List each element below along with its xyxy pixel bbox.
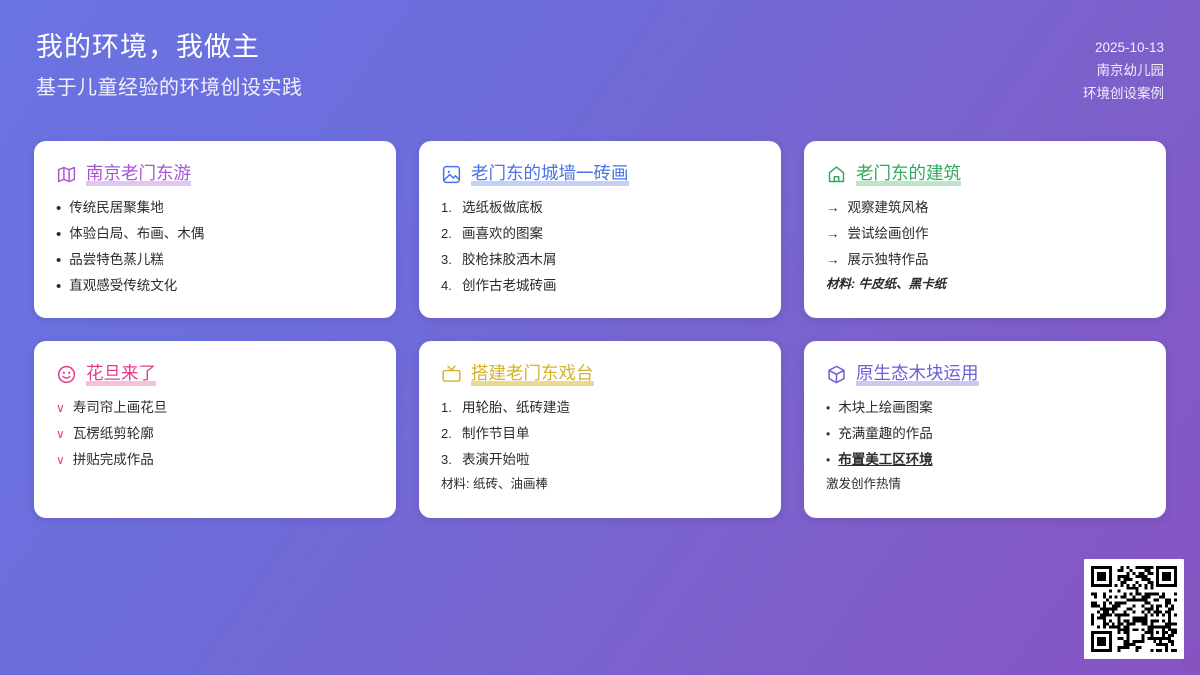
activity-card[interactable]: 老门东的城墙一砖画1.选纸板做底板2.画喜欢的图案3.胶枪抹胶洒木屑4.创作古老… <box>419 141 781 318</box>
activity-card[interactable]: 南京老门东游•传统民居聚集地•体验白局、布画、木偶•品尝特色蒸儿糕•直观感受传统… <box>34 141 396 318</box>
card-header: 搭建老门东戏台 <box>441 363 759 386</box>
smiley-icon <box>56 364 77 385</box>
list-marker-bullet: • <box>826 428 830 440</box>
list-item-text: 选纸板做底板 <box>462 200 543 217</box>
card-title: 南京老门东游 <box>86 163 191 186</box>
list-marker-number: 2. <box>441 226 454 242</box>
list-item-text: 瓦楞纸剪轮廓 <box>73 426 154 443</box>
list-marker-number: 3. <box>441 252 454 268</box>
list-item: •布置美工区环境 <box>826 452 1144 469</box>
card-item-list: →观察建筑风格→尝试绘画创作→展示独特作品 <box>826 200 1144 269</box>
card-note: 材料: 牛皮纸、黑卡纸 <box>826 276 1144 292</box>
card-header: 南京老门东游 <box>56 163 374 186</box>
list-item-text: 充满童趣的作品 <box>838 426 933 443</box>
list-marker-number: 4. <box>441 278 454 294</box>
activity-card[interactable]: 花旦来了∨寿司帘上画花旦∨瓦楞纸剪轮廓∨拼贴完成作品 <box>34 341 396 518</box>
list-marker-bullet: • <box>826 454 830 466</box>
list-item: •木块上绘画图案 <box>826 400 1144 417</box>
list-item: →尝试绘画创作 <box>826 226 1144 243</box>
image-icon <box>441 164 462 185</box>
card-title: 老门东的建筑 <box>856 163 961 186</box>
list-item-text: 制作节目单 <box>462 426 530 443</box>
list-marker-check: ∨ <box>56 427 65 442</box>
list-item: →观察建筑风格 <box>826 200 1144 217</box>
card-item-list: •木块上绘画图案•充满童趣的作品•布置美工区环境 <box>826 400 1144 469</box>
list-marker-bullet: • <box>56 201 61 216</box>
list-item: 3.表演开始啦 <box>441 452 759 469</box>
list-item-text: 布置美工区环境 <box>838 452 933 469</box>
list-item-text: 用轮胎、纸砖建造 <box>462 400 570 417</box>
list-marker-bullet: • <box>826 402 830 414</box>
card-item-list: ∨寿司帘上画花旦∨瓦楞纸剪轮廓∨拼贴完成作品 <box>56 400 374 469</box>
list-item: ∨拼贴完成作品 <box>56 452 374 469</box>
meta-org: 南京幼儿园 <box>1083 59 1164 82</box>
card-header: 老门东的城墙一砖画 <box>441 163 759 186</box>
list-marker-bullet: • <box>56 279 61 294</box>
list-item: 2.画喜欢的图案 <box>441 226 759 243</box>
list-item-text: 体验白局、布画、木偶 <box>69 226 204 243</box>
list-marker-check: ∨ <box>56 453 65 468</box>
list-item-text: 品尝特色蒸儿糕 <box>69 252 164 269</box>
list-marker-arrow: → <box>826 252 840 269</box>
list-marker-bullet: • <box>56 227 61 242</box>
list-item: 1.选纸板做底板 <box>441 200 759 217</box>
list-item-text: 尝试绘画创作 <box>848 226 929 243</box>
card-note: 激发创作热情 <box>826 476 1144 492</box>
card-header: 原生态木块运用 <box>826 363 1144 386</box>
list-item: •品尝特色蒸儿糕 <box>56 252 374 269</box>
card-title: 原生态木块运用 <box>856 363 979 386</box>
list-item: 2.制作节目单 <box>441 426 759 443</box>
list-item: 1.用轮胎、纸砖建造 <box>441 400 759 417</box>
list-item-text: 拼贴完成作品 <box>73 452 154 469</box>
list-marker-number: 3. <box>441 452 454 468</box>
card-header: 老门东的建筑 <box>826 163 1144 186</box>
card-item-list: 1.用轮胎、纸砖建造2.制作节目单3.表演开始啦 <box>441 400 759 469</box>
list-marker-arrow: → <box>826 200 840 217</box>
page-title: 我的环境，我做主 <box>36 30 303 65</box>
list-item-text: 寿司帘上画花旦 <box>73 400 168 417</box>
list-item: ∨瓦楞纸剪轮廓 <box>56 426 374 443</box>
page-subtitle: 基于儿童经验的环境创设实践 <box>36 71 303 100</box>
meta-date: 2025-10-13 <box>1083 36 1164 59</box>
card-item-list: •传统民居聚集地•体验白局、布画、木偶•品尝特色蒸儿糕•直观感受传统文化 <box>56 200 374 295</box>
list-item-text: 观察建筑风格 <box>848 200 929 217</box>
list-item: 3.胶枪抹胶洒木屑 <box>441 252 759 269</box>
list-item-text: 展示独特作品 <box>848 252 929 269</box>
activity-card[interactable]: 原生态木块运用•木块上绘画图案•充满童趣的作品•布置美工区环境激发创作热情 <box>804 341 1166 518</box>
card-title: 搭建老门东戏台 <box>471 363 594 386</box>
list-marker-number: 2. <box>441 426 454 442</box>
activity-card[interactable]: 老门东的建筑→观察建筑风格→尝试绘画创作→展示独特作品材料: 牛皮纸、黑卡纸 <box>804 141 1166 318</box>
list-marker-number: 1. <box>441 200 454 216</box>
cube-icon <box>826 364 847 385</box>
list-item-text: 创作古老城砖画 <box>462 278 557 295</box>
list-item: •传统民居聚集地 <box>56 200 374 217</box>
list-item-text: 表演开始啦 <box>462 452 530 469</box>
list-item: →展示独特作品 <box>826 252 1144 269</box>
list-marker-bullet: • <box>56 253 61 268</box>
card-header: 花旦来了 <box>56 363 374 386</box>
card-title: 花旦来了 <box>86 363 156 386</box>
title-block: 我的环境，我做主 基于儿童经验的环境创设实践 <box>36 30 303 100</box>
list-item: ∨寿司帘上画花旦 <box>56 400 374 417</box>
card-item-list: 1.选纸板做底板2.画喜欢的图案3.胶枪抹胶洒木屑4.创作古老城砖画 <box>441 200 759 295</box>
meta-category: 环境创设案例 <box>1083 82 1164 105</box>
list-item-text: 直观感受传统文化 <box>69 278 177 295</box>
list-marker-check: ∨ <box>56 401 65 416</box>
list-marker-number: 1. <box>441 400 454 416</box>
list-item: •直观感受传统文化 <box>56 278 374 295</box>
list-item-text: 木块上绘画图案 <box>838 400 933 417</box>
list-marker-arrow: → <box>826 226 840 243</box>
list-item: 4.创作古老城砖画 <box>441 278 759 295</box>
map-icon <box>56 164 77 185</box>
activity-card[interactable]: 搭建老门东戏台1.用轮胎、纸砖建造2.制作节目单3.表演开始啦材料: 纸砖、油画… <box>419 341 781 518</box>
home-icon <box>826 164 847 185</box>
tv-stage-icon <box>441 364 462 385</box>
page-header: 我的环境，我做主 基于儿童经验的环境创设实践 2025-10-13 南京幼儿园 … <box>0 0 1200 130</box>
card-note: 材料: 纸砖、油画棒 <box>441 476 759 492</box>
header-meta: 2025-10-13 南京幼儿园 环境创设案例 <box>1083 36 1164 106</box>
list-item-text: 传统民居聚集地 <box>69 200 164 217</box>
qr-code-image <box>1091 566 1177 652</box>
list-item-text: 画喜欢的图案 <box>462 226 543 243</box>
card-title: 老门东的城墙一砖画 <box>471 163 629 186</box>
list-item-text: 胶枪抹胶洒木屑 <box>462 252 557 269</box>
list-item: •充满童趣的作品 <box>826 426 1144 443</box>
qr-code[interactable] <box>1084 559 1184 659</box>
list-item: •体验白局、布画、木偶 <box>56 226 374 243</box>
card-grid: 南京老门东游•传统民居聚集地•体验白局、布画、木偶•品尝特色蒸儿糕•直观感受传统… <box>34 141 1166 518</box>
